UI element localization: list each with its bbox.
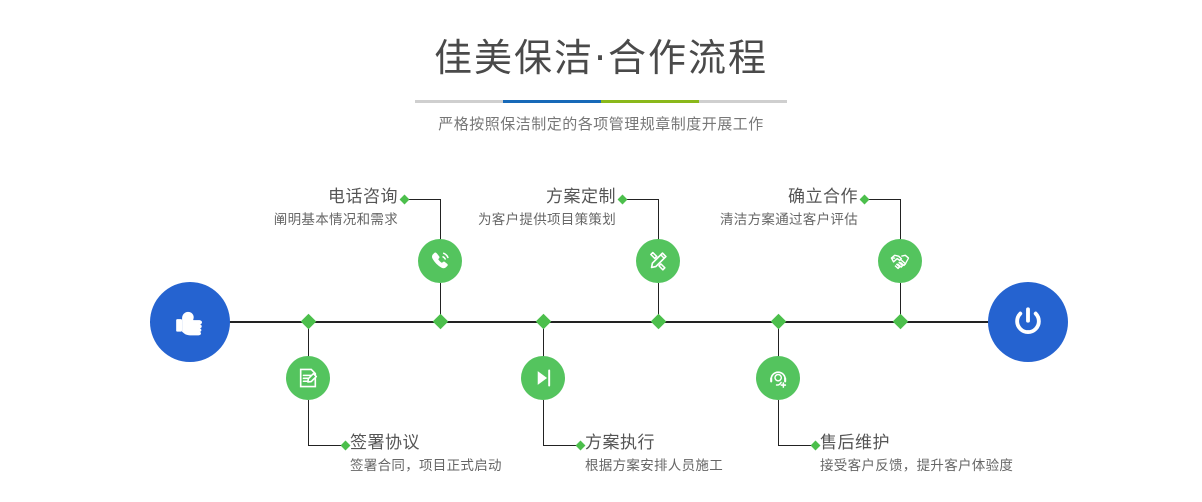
timeline-end-endpoint — [988, 282, 1068, 362]
step-node-sign-agreement[interactable] — [286, 356, 330, 400]
step-title-plan-execution: 方案执行 — [585, 432, 805, 454]
axis-diamond-phone-consult — [433, 314, 449, 330]
step-leader-dot-plan-execution — [576, 441, 586, 451]
axis-diamond-after-sales — [771, 314, 787, 330]
step-label-establish-cooperation: 确立合作 清洁方案通过客户评估 — [690, 186, 858, 230]
step-desc-plan-customization: 为客户提供项目策策划 — [440, 208, 616, 230]
step-node-after-sales[interactable] — [756, 356, 800, 400]
step-node-establish-cooperation[interactable] — [878, 239, 922, 283]
pointing-hand-icon — [170, 302, 210, 342]
step-leader-dot-plan-customization — [618, 195, 628, 205]
play-forward-icon — [530, 365, 556, 391]
step-label-after-sales: 售后维护 接受客户反馈，提升客户体验度 — [820, 432, 1070, 476]
step-leader-dot-after-sales — [811, 441, 821, 451]
axis-diamond-establish-cooperation — [893, 314, 909, 330]
phone-call-icon — [427, 248, 453, 274]
axis-diamond-plan-execution — [536, 314, 552, 330]
step-title-after-sales: 售后维护 — [820, 432, 1070, 454]
headset-add-icon — [765, 365, 791, 391]
cooperation-process-infographic: 佳美保洁·合作流程 严格按照保洁制定的各项管理规章制度开展工作 — [0, 0, 1202, 502]
step-node-plan-customization[interactable] — [636, 239, 680, 283]
axis-diamond-sign-agreement — [301, 314, 317, 330]
step-stem-plan-customization — [658, 199, 659, 241]
step-desc-phone-consult: 阐明基本情况和需求 — [240, 208, 398, 230]
step-stem-establish-cooperation — [900, 199, 901, 241]
step-leader-dot-phone-consult — [400, 195, 410, 205]
step-title-sign-agreement: 签署协议 — [350, 432, 570, 454]
timeline: 电话咨询 阐明基本情况和需求 签署协议 签署合同，项目正式启动 — [0, 0, 1202, 502]
step-label-sign-agreement: 签署协议 签署合同，项目正式启动 — [350, 432, 570, 476]
document-edit-icon — [295, 365, 321, 391]
step-leader-dot-sign-agreement — [341, 441, 351, 451]
timeline-start-endpoint — [150, 282, 230, 362]
step-title-establish-cooperation: 确立合作 — [690, 186, 858, 208]
step-desc-sign-agreement: 签署合同，项目正式启动 — [350, 454, 570, 476]
pencil-ruler-icon — [645, 248, 671, 274]
step-node-phone-consult[interactable] — [418, 239, 462, 283]
step-label-phone-consult: 电话咨询 阐明基本情况和需求 — [240, 186, 398, 230]
timeline-axis — [150, 321, 1052, 323]
step-title-plan-customization: 方案定制 — [440, 186, 616, 208]
step-stem-sign-agreement — [308, 400, 309, 445]
step-title-phone-consult: 电话咨询 — [240, 186, 398, 208]
step-desc-plan-execution: 根据方案安排人员施工 — [585, 454, 805, 476]
handshake-icon — [887, 248, 913, 274]
step-desc-after-sales: 接受客户反馈，提升客户体验度 — [820, 454, 1070, 476]
step-leader-dot-establish-cooperation — [860, 195, 870, 205]
step-label-plan-execution: 方案执行 根据方案安排人员施工 — [585, 432, 805, 476]
power-icon — [1007, 301, 1049, 343]
step-label-plan-customization: 方案定制 为客户提供项目策策划 — [440, 186, 616, 230]
step-node-plan-execution[interactable] — [521, 356, 565, 400]
step-desc-establish-cooperation: 清洁方案通过客户评估 — [690, 208, 858, 230]
axis-diamond-plan-customization — [651, 314, 667, 330]
